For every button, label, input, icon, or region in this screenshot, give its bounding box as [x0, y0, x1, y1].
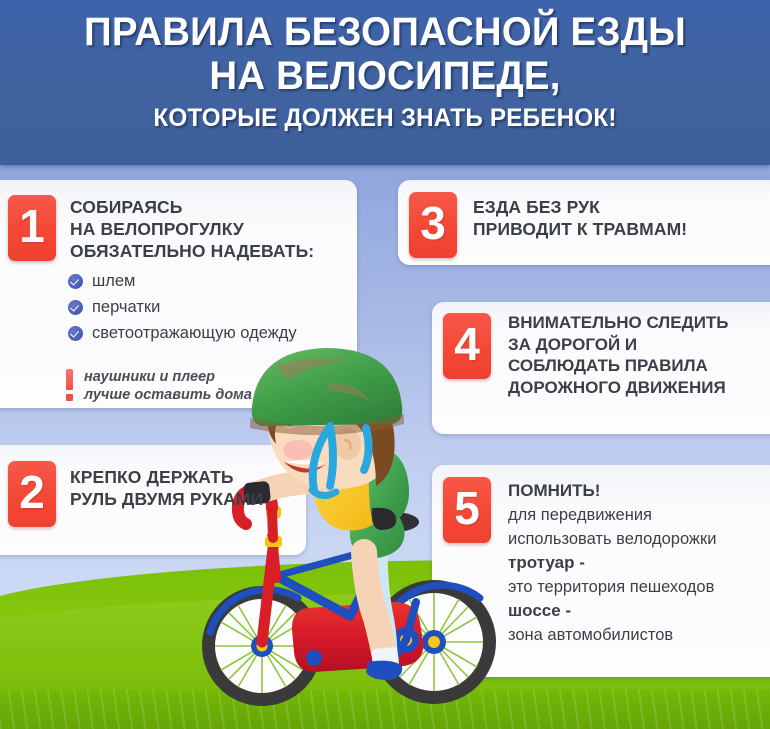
rule-2-title-line1: КРЕПКО ДЕРЖАТЬ: [70, 466, 320, 488]
rule-1-gear-list: шлем перчатки светоотражающую одежду: [68, 272, 368, 350]
rule-4-title-line2: ЗА ДОРОГОЙ И: [508, 334, 770, 356]
list-item-label: перчатки: [92, 298, 160, 317]
rule-1-note-line1: наушники и плеер: [84, 369, 215, 385]
rule-5-line5: это территория пешеходов: [508, 575, 770, 599]
rule-1-title: СОБИРАЯСЬ НА ВЕЛОПРОГУЛКУ ОБЯЗАТЕЛЬНО НА…: [70, 196, 360, 262]
rule-2-title: КРЕПКО ДЕРЖАТЬ РУЛЬ ДВУМЯ РУКАМИ: [70, 466, 320, 510]
rule-number-badge-4: 4: [443, 313, 491, 379]
rule-5-line3: использовать велодорожки: [508, 527, 770, 551]
header-title-line2: НА ВЕЛОСИПЕДЕ,: [29, 54, 741, 98]
check-circle-icon: [68, 326, 83, 341]
rule-3-title-line1: ЕЗДА БЕЗ РУК: [473, 196, 770, 218]
rule-5-line7: зона автомобилистов: [508, 623, 770, 647]
rule-number-badge-3: 3: [409, 192, 457, 258]
rule-5-line4: тротуар -: [508, 551, 770, 575]
list-item-label: светоотражающую одежду: [92, 324, 297, 343]
infographic-poster: ПРАВИЛА БЕЗОПАСНОЙ ЕЗДЫ НА ВЕЛОСИПЕДЕ, К…: [0, 0, 770, 729]
rule-1-note-line2: лучше оставить дома: [84, 387, 252, 403]
rule-5-line2: для передвижения: [508, 503, 770, 527]
check-circle-icon: [68, 274, 83, 289]
rule-4-title-line1: ВНИМАТЕЛЬНО СЛЕДИТЬ: [508, 312, 770, 334]
rule-2-title-line2: РУЛЬ ДВУМЯ РУКАМИ: [70, 488, 320, 510]
list-item: перчатки: [68, 298, 368, 317]
list-item-label: шлем: [92, 272, 135, 291]
poster-header: ПРАВИЛА БЕЗОПАСНОЙ ЕЗДЫ НА ВЕЛОСИПЕДЕ, К…: [0, 0, 770, 165]
rule-4-title-line4: ДОРОЖНОГО ДВИЖЕНИЯ: [508, 377, 770, 399]
rule-4-title: ВНИМАТЕЛЬНО СЛЕДИТЬ ЗА ДОРОГОЙ И СОБЛЮДА…: [508, 312, 770, 398]
rule-number-badge-5: 5: [443, 477, 491, 543]
rule-1-warning-note: наушники и плеер лучше оставить дома: [66, 368, 296, 404]
header-subtitle: КОТОРЫЕ ДОЛЖЕН ЗНАТЬ РЕБЕНОК!: [25, 102, 745, 134]
list-item: шлем: [68, 272, 368, 291]
rule-3-title-line2: ПРИВОДИТ К ТРАВМАМ!: [473, 218, 770, 240]
header-title-line1: ПРАВИЛА БЕЗОПАСНОЙ ЕЗДЫ: [29, 10, 741, 54]
rule-4-title-line3: СОБЛЮДАТЬ ПРАВИЛА: [508, 355, 770, 377]
rule-number-badge-1: 1: [8, 195, 56, 261]
rule-5-line6: шоссе -: [508, 599, 770, 623]
rule-number-badge-2: 2: [8, 461, 56, 527]
rule-5-line1: ПОМНИТЬ!: [508, 479, 770, 503]
rule-1-note-text: наушники и плеер лучше оставить дома: [84, 368, 252, 404]
check-circle-icon: [68, 300, 83, 315]
list-item: светоотражающую одежду: [68, 324, 368, 343]
exclamation-icon: [66, 369, 73, 401]
rule-3-title: ЕЗДА БЕЗ РУК ПРИВОДИТ К ТРАВМАМ!: [473, 196, 770, 240]
rule-5-body: ПОМНИТЬ! для передвижения использовать в…: [508, 479, 770, 647]
rule-1-title-line3: ОБЯЗАТЕЛЬНО НАДЕВАТЬ:: [70, 240, 360, 262]
rule-1-title-line2: НА ВЕЛОПРОГУЛКУ: [70, 218, 360, 240]
rule-1-title-line1: СОБИРАЯСЬ: [70, 196, 360, 218]
